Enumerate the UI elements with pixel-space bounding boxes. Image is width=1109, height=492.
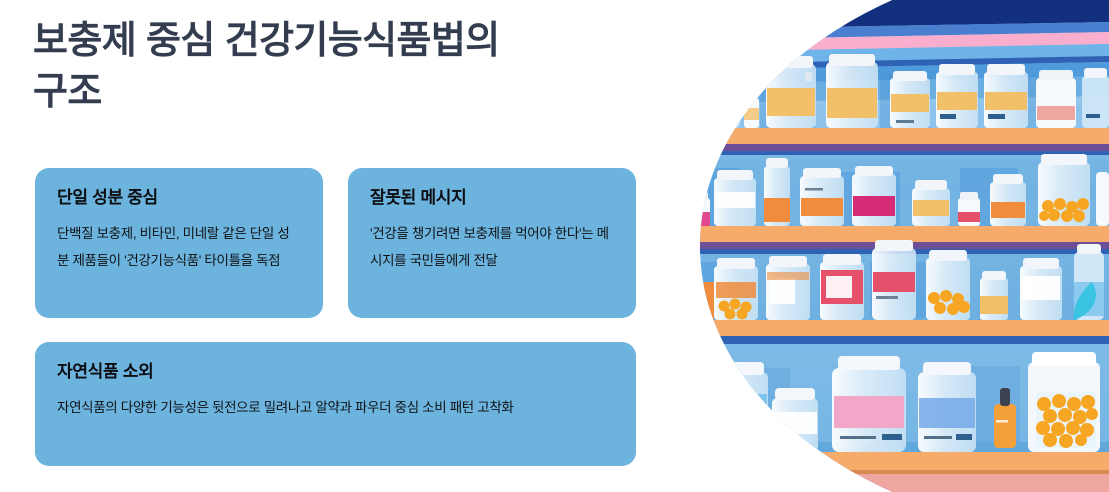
card-body: 단백질 보충제, 비타민, 미네랄 같은 단일 성분 제품들이 '건강기능식품'… <box>57 221 301 274</box>
page-title: 보충제 중심 건강기능식품법의 구조 <box>33 16 633 117</box>
slide-root: 보충제 중심 건강기능식품법의 구조 단일 성분 중심 단백질 보충제, 비타민… <box>0 0 1109 492</box>
shelf-row-3 <box>640 240 1109 344</box>
card-title: 자연식품 소외 <box>57 362 614 382</box>
info-card-wrong-message: 잘못된 메시지 '건강을 챙기려면 보충제를 먹어야 한다'는 메시지를 국민들… <box>348 168 636 318</box>
illustration-panel <box>640 0 1109 492</box>
info-card-natural-food-exclusion: 자연식품 소외 자연식품의 다양한 기능성은 뒷전으로 밀려나고 알약과 파우더… <box>35 342 636 466</box>
shelf-row-4 <box>640 344 1109 492</box>
card-title: 단일 성분 중심 <box>57 188 301 208</box>
card-title: 잘못된 메시지 <box>370 188 614 208</box>
shelves-artwork <box>640 0 1109 492</box>
info-card-single-ingredient: 단일 성분 중심 단백질 보충제, 비타민, 미네랄 같은 단일 성분 제품들이… <box>35 168 323 318</box>
card-body: 자연식품의 다양한 기능성은 뒷전으로 밀려나고 알약과 파우더 중심 소비 패… <box>57 395 614 421</box>
content-column: 보충제 중심 건강기능식품법의 구조 단일 성분 중심 단백질 보충제, 비타민… <box>0 0 660 492</box>
leaf-decor <box>648 260 682 322</box>
supplement-store-shelves-illustration <box>640 0 1109 492</box>
shelf-row-2 <box>640 154 1109 254</box>
card-body: '건강을 챙기려면 보충제를 먹어야 한다'는 메시지를 국민들에게 전달 <box>370 221 614 274</box>
